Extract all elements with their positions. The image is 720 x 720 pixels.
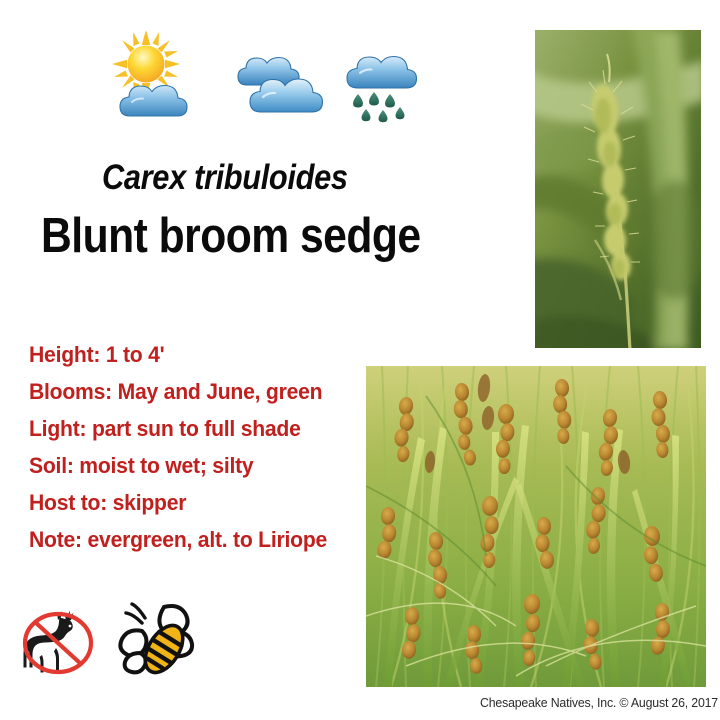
plant-facts-list: Height: 1 to 4' Blooms: May and June, gr…: [29, 336, 374, 558]
partly-sunny-icon: [108, 28, 212, 132]
fact-note: Note: evergreen, alt. to Liriope: [29, 521, 353, 558]
fact-host-to: Host to: skipper: [29, 484, 353, 521]
plant-info-card: Carex tribuloides Blunt broom sedge Heig…: [0, 0, 720, 720]
footer-credit: Chesapeake Natives, Inc. © August 26, 20…: [480, 695, 703, 710]
bee-icon: [112, 597, 204, 683]
rain-icon: [336, 28, 440, 132]
fact-blooms: Blooms: May and June, green: [29, 373, 353, 410]
no-deer-icon: [20, 599, 96, 679]
cloudy-icon: [233, 28, 337, 132]
photo-stand: [366, 366, 706, 687]
weather-icon-row: [108, 28, 428, 132]
photo-seedhead: [535, 30, 701, 348]
fact-light: Light: part sun to full shade: [29, 410, 353, 447]
species-name: Carex tribuloides: [102, 158, 348, 197]
attribute-symbol-row: [20, 597, 190, 681]
fact-soil: Soil: moist to wet; silty: [29, 447, 353, 484]
fact-height: Height: 1 to 4': [29, 336, 353, 373]
common-name: Blunt broom sedge: [41, 209, 421, 265]
